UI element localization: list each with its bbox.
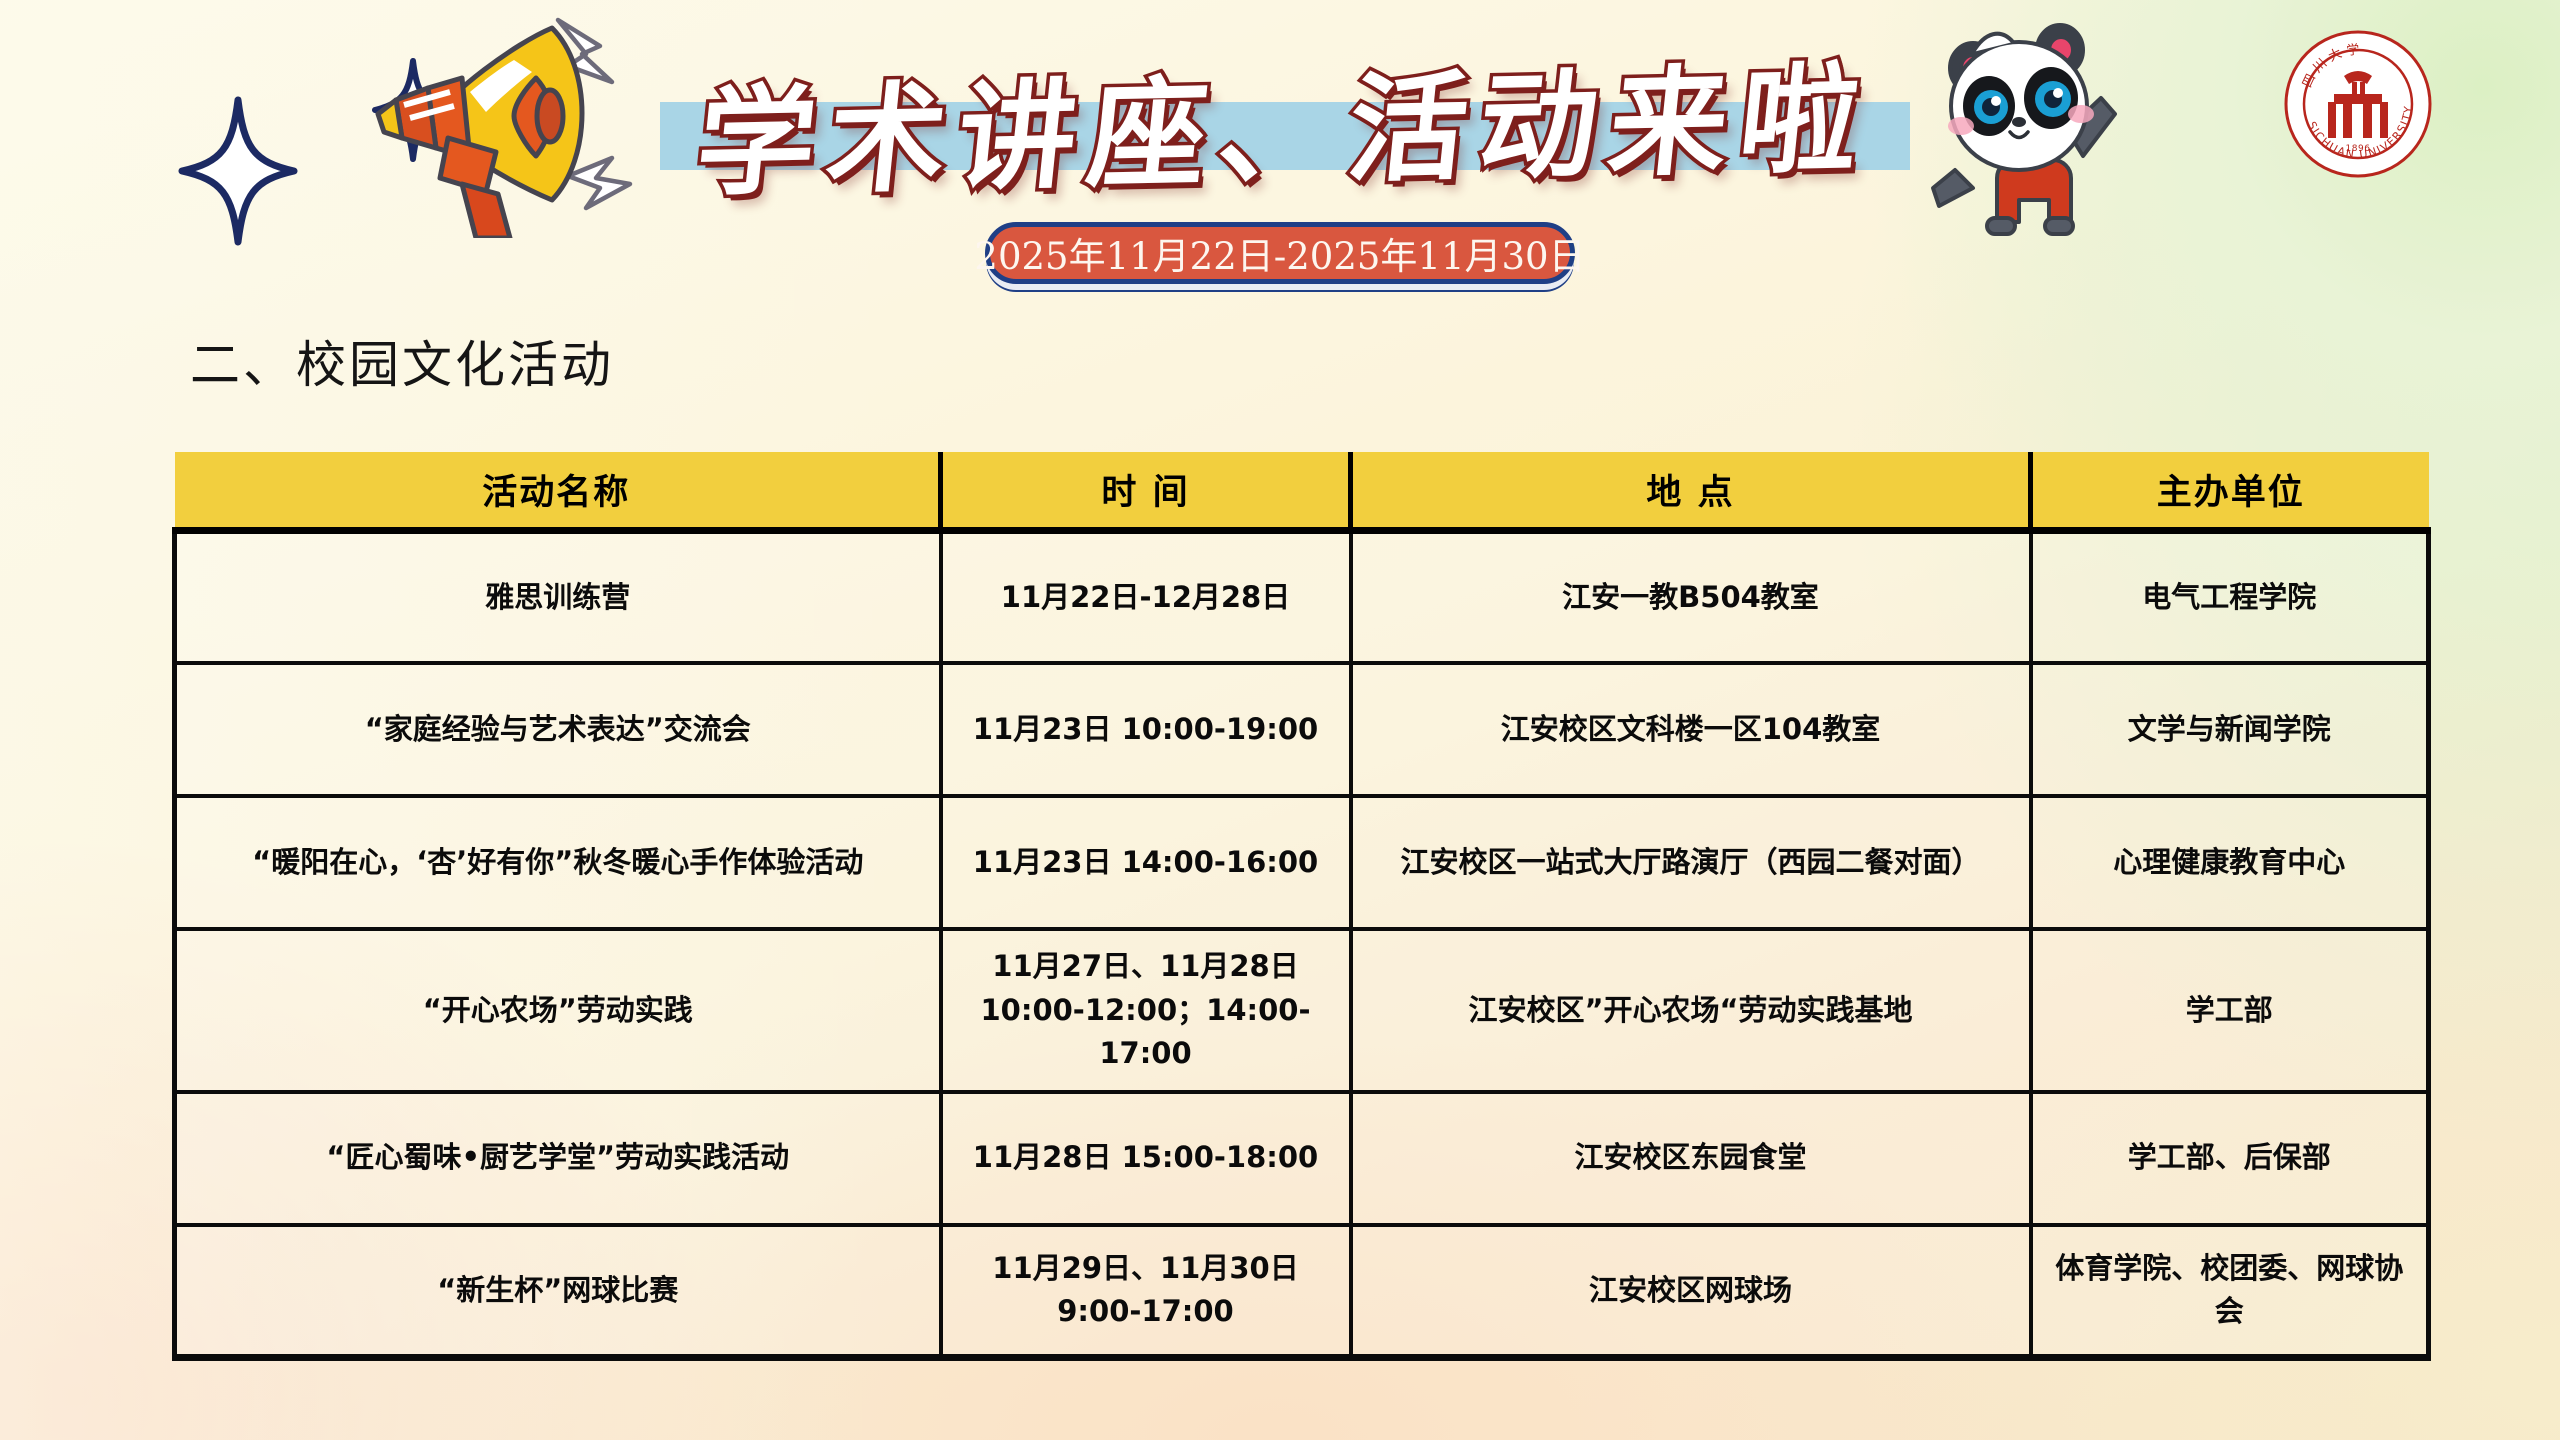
column-header-activity-name: 活动名称 — [175, 452, 941, 530]
cell-time: 11月29日、11月30日 9:00-17:00 — [941, 1225, 1351, 1358]
table-row: “匠心蜀味•厨艺学堂”劳动实践活动11月28日 15:00-18:00江安校区东… — [175, 1092, 2429, 1225]
date-range-badge: 2025年11月22日-2025年11月30日 — [985, 222, 1575, 284]
table-row: “家庭经验与艺术表达”交流会11月23日 10:00-19:00江安校区文科楼一… — [175, 663, 2429, 796]
schedule-table-container: 活动名称 时 间 地 点 主办单位 雅思训练营11月22日-12月28日江安一教… — [172, 452, 2426, 1361]
cell-organizer: 体育学院、校团委、网球协会 — [2031, 1225, 2429, 1358]
panda-mascot-icon — [1915, 10, 2155, 242]
cell-place: 江安校区网球场 — [1351, 1225, 2031, 1358]
cell-activity-name: 雅思训练营 — [175, 530, 941, 663]
sichuan-university-logo-icon: 1896 SICHUAN UNIVERSITY 四 川 大 学 — [2282, 28, 2434, 180]
campus-culture-activity-table: 活动名称 时 间 地 点 主办单位 雅思训练营11月22日-12月28日江安一教… — [172, 452, 2431, 1361]
cell-activity-name: “匠心蜀味•厨艺学堂”劳动实践活动 — [175, 1092, 941, 1225]
table-row: 雅思训练营11月22日-12月28日江安一教B504教室电气工程学院 — [175, 530, 2429, 663]
column-header-place: 地 点 — [1351, 452, 2031, 530]
table-header-row: 活动名称 时 间 地 点 主办单位 — [175, 452, 2429, 530]
cell-activity-name: “新生杯”网球比赛 — [175, 1225, 941, 1358]
cell-activity-name: “家庭经验与艺术表达”交流会 — [175, 663, 941, 796]
sparkle-large-icon — [178, 96, 298, 246]
column-header-time: 时 间 — [941, 452, 1351, 530]
date-range-text: 2025年11月22日-2025年11月30日 — [974, 226, 1585, 280]
cell-place: 江安校区一站式大厅路演厅（西园二餐对面） — [1351, 796, 2031, 929]
cell-time: 11月22日-12月28日 — [941, 530, 1351, 663]
column-header-organizer: 主办单位 — [2031, 452, 2429, 530]
cell-organizer: 学工部 — [2031, 929, 2429, 1092]
cell-time: 11月23日 14:00-16:00 — [941, 796, 1351, 929]
cell-place: 江安校区文科楼一区104教室 — [1351, 663, 2031, 796]
cell-organizer: 学工部、后保部 — [2031, 1092, 2429, 1225]
cell-place: 江安校区”开心农场“劳动实践基地 — [1351, 929, 2031, 1092]
megaphone-icon — [300, 8, 640, 238]
table-body: 雅思训练营11月22日-12月28日江安一教B504教室电气工程学院“家庭经验与… — [175, 530, 2429, 1358]
cell-place: 江安校区东园食堂 — [1351, 1092, 2031, 1225]
table-row: “新生杯”网球比赛11月29日、11月30日 9:00-17:00江安校区网球场… — [175, 1225, 2429, 1358]
table-row: “开心农场”劳动实践11月27日、11月28日 10:00-12:00；14:0… — [175, 929, 2429, 1092]
poster-header: 1896 SICHUAN UNIVERSITY 四 川 大 学 学术讲座、活动来… — [0, 0, 2560, 320]
cell-organizer: 电气工程学院 — [2031, 530, 2429, 663]
section-heading: 二、校园文化活动 — [190, 325, 614, 397]
cell-time: 11月23日 10:00-19:00 — [941, 663, 1351, 796]
cell-activity-name: “暖阳在心，‘杏’好有你”秋冬暖心手作体验活动 — [175, 796, 941, 929]
cell-place: 江安一教B504教室 — [1351, 530, 2031, 663]
cell-time: 11月28日 15:00-18:00 — [941, 1092, 1351, 1225]
cell-organizer: 文学与新闻学院 — [2031, 663, 2429, 796]
poster-title: 学术讲座、活动来啦 — [650, 27, 1919, 213]
cell-time: 11月27日、11月28日 10:00-12:00；14:00-17:00 — [941, 929, 1351, 1092]
cell-organizer: 心理健康教育中心 — [2031, 796, 2429, 929]
cell-activity-name: “开心农场”劳动实践 — [175, 929, 941, 1092]
table-row: “暖阳在心，‘杏’好有你”秋冬暖心手作体验活动11月23日 14:00-16:0… — [175, 796, 2429, 929]
